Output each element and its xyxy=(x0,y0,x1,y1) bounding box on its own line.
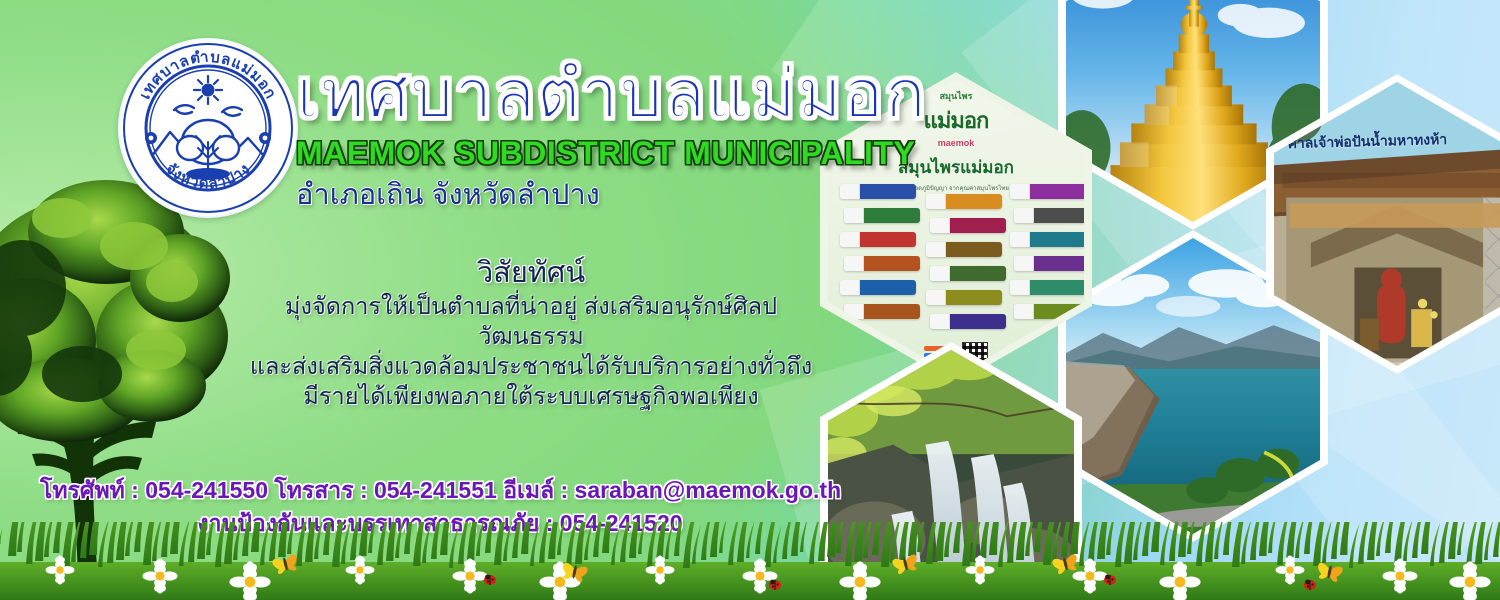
herbal-product-item xyxy=(930,266,1006,281)
herbal-product-item xyxy=(1014,208,1084,223)
herbal-product-item xyxy=(1010,232,1084,247)
municipality-seal: เทศบาลตำบลแม่มอก จังหวัดลำปาง xyxy=(118,38,298,218)
contact-line-primary[interactable]: โทรศัพท์ : 054-241550 โทรสาร : 054-24155… xyxy=(40,474,840,507)
herbal-product-item xyxy=(930,218,1006,233)
herbal-product-item xyxy=(930,314,1006,329)
herbal-product-item xyxy=(926,290,1002,305)
vision-heading: วิสัยทัศน์ xyxy=(246,255,816,291)
herbal-product-item xyxy=(1010,280,1084,295)
title-block: เทศบาลตำบลแม่มอก MAEMOK SUBDISTRICT MUNI… xyxy=(296,56,927,212)
municipality-banner: วัดพ... xyxy=(0,0,1500,600)
vision-line-3: มีรายได้เพียงพอภายใต้ระบบเศรษฐกิจพอเพียง xyxy=(246,381,816,411)
herbal-brand-logo: สมุนไพร แม่มอก maemok xyxy=(924,89,989,148)
herbal-product-item xyxy=(926,242,1002,257)
herbal-product-item xyxy=(926,194,1002,209)
herbal-product-item xyxy=(844,256,920,271)
page-subtitle-location: อำเภอเถิน จังหวัดลำปาง xyxy=(296,178,927,212)
herbal-product-item xyxy=(840,280,916,295)
vision-block: วิสัยทัศน์ มุ่งจัดการให้เป็นตำบลที่น่าอย… xyxy=(246,255,816,411)
herbal-product-item xyxy=(1014,256,1084,271)
vision-line-1: มุ่งจัดการให้เป็นตำบลที่น่าอยู่ ส่งเสริม… xyxy=(246,291,816,351)
herbal-product-item xyxy=(844,304,920,319)
grass-footer xyxy=(0,522,1500,600)
herbal-product-item xyxy=(1010,184,1084,199)
vision-line-2: และส่งเสริมสิ่งแวดล้อมประชาชนได้รับบริกา… xyxy=(246,351,816,381)
shrine-caption: ศาลเจ้าพ่อปันน้ำมหาทงห้า xyxy=(1288,132,1447,150)
herbal-product-item xyxy=(840,232,916,247)
page-title-thai: เทศบาลตำบลแม่มอก xyxy=(296,56,927,132)
brand-sub: maemok xyxy=(924,138,989,148)
brand-main: แม่มอก xyxy=(924,103,989,138)
page-title-english: MAEMOK SUBDISTRICT MUNICIPALITY xyxy=(296,134,927,172)
